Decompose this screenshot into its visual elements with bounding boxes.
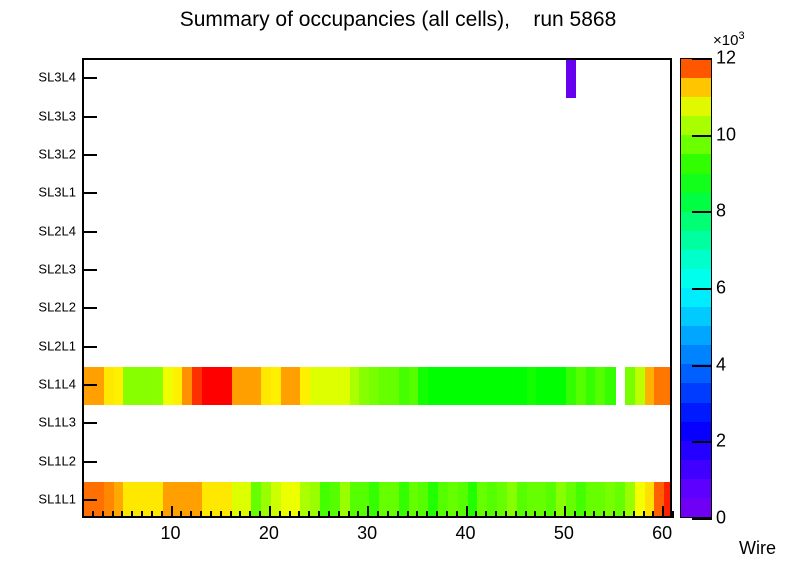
colorbar-tick: [692, 58, 712, 60]
colorbar-tick: [692, 518, 712, 520]
colorbar-exponent-power: 3: [738, 30, 744, 42]
root-canvas: Summary of occupancies (all cells), run …: [0, 0, 796, 572]
colorbar-label-8: 8: [716, 201, 726, 222]
colorbar-tick: [692, 288, 712, 290]
colorbar-label-6: 6: [716, 278, 726, 299]
colorbar-label-2: 2: [716, 431, 726, 452]
colorbar-exponent: ×103: [713, 30, 745, 49]
colorbar-exponent-base: ×10: [713, 32, 738, 49]
colorbar-label-10: 10: [716, 124, 736, 145]
x-axis-title: Wire: [739, 538, 776, 559]
colorbar-tick: [692, 365, 712, 367]
colorbar-label-12: 12: [716, 48, 736, 69]
colorbar-tick: [692, 135, 712, 137]
colorbar-tick: [692, 211, 712, 213]
colorbar-ticks: 024681012: [0, 0, 796, 572]
colorbar-label-4: 4: [716, 354, 726, 375]
colorbar-tick: [692, 441, 712, 443]
colorbar-label-0: 0: [716, 508, 726, 529]
